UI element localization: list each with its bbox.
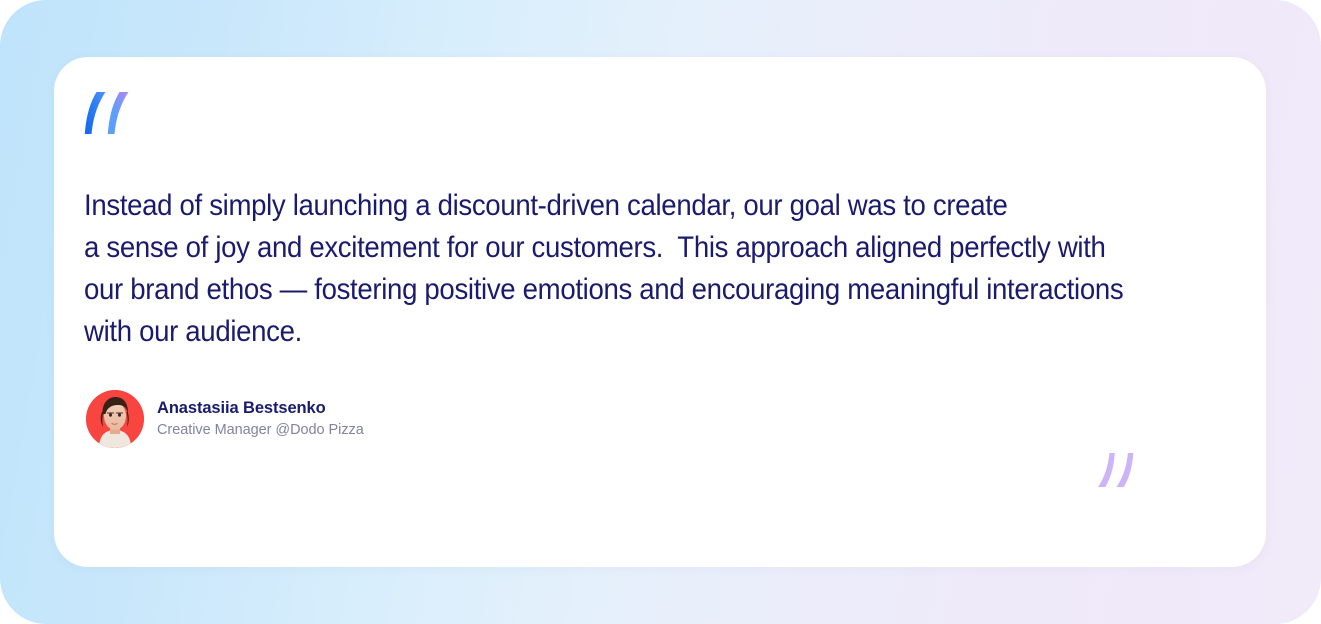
author-meta: Anastasiia Bestsenko Creative Manager @D… xyxy=(157,399,364,439)
testimonial-stage: Instead of simply launching a discount-d… xyxy=(0,0,1321,624)
author-row: Anastasiia Bestsenko Creative Manager @D… xyxy=(86,390,364,448)
quote-text: Instead of simply launching a discount-d… xyxy=(84,185,1169,353)
quote-card: Instead of simply launching a discount-d… xyxy=(54,57,1266,567)
quote-open-icon xyxy=(84,90,146,142)
author-name: Anastasiia Bestsenko xyxy=(157,399,364,418)
author-role: Creative Manager @Dodo Pizza xyxy=(157,422,364,439)
quote-close-icon xyxy=(1084,445,1134,489)
avatar xyxy=(86,390,144,448)
